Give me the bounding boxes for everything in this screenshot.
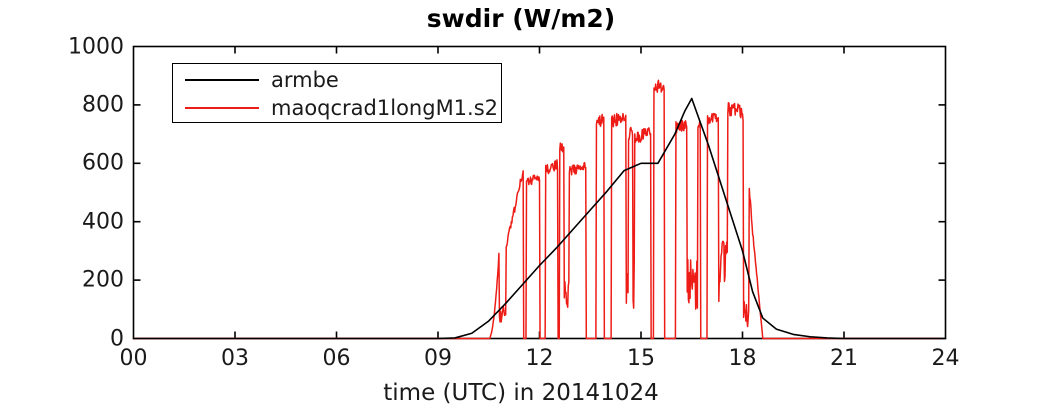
chart-legend: armbe maoqcrad1longM1.s2	[172, 63, 502, 123]
x-tick-label: 21	[830, 346, 858, 371]
x-tick-label: 24	[932, 346, 960, 371]
y-tick-label: 800	[40, 92, 124, 117]
x-tick-label: 09	[424, 346, 452, 371]
legend-swatch-maoqcrad1longm1-s2	[185, 107, 259, 109]
x-tick-label: 06	[323, 346, 351, 371]
y-tick-label: 200	[40, 268, 124, 293]
plot-canvas	[0, 0, 1042, 417]
x-tick-label: 18	[729, 346, 757, 371]
y-tick-label: 1000	[40, 34, 124, 59]
y-tick-label: 0	[40, 326, 124, 351]
chart-figure: swdir (W/m2) 02004006008001000 000306091…	[0, 0, 1042, 417]
x-tick-label: 03	[221, 346, 249, 371]
x-tick-label: 15	[627, 346, 655, 371]
x-axis-label: time (UTC) in 20141024	[0, 380, 1042, 406]
legend-swatch-armbe	[185, 79, 259, 81]
x-tick-label: 00	[120, 346, 148, 371]
y-tick-label: 600	[40, 151, 124, 176]
legend-label-maoqcrad1longm1-s2: maoqcrad1longM1.s2	[271, 98, 498, 119]
legend-label-armbe: armbe	[271, 70, 339, 91]
x-tick-label: 12	[526, 346, 554, 371]
legend-entry-armbe: armbe	[173, 65, 501, 95]
legend-entry-maoqcrad1longm1-s2: maoqcrad1longM1.s2	[173, 93, 501, 123]
y-tick-label: 400	[40, 209, 124, 234]
